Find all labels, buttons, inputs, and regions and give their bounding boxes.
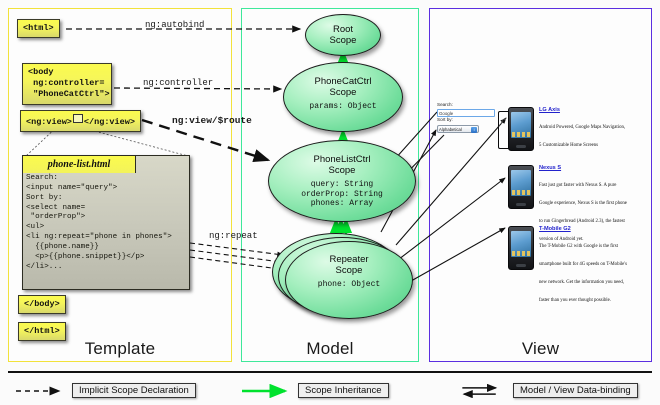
scope-phonecatctrl-name-line2: Scope [284,88,402,99]
legend-divider [8,371,652,373]
legend-item-scope-inheritance: Scope Inheritance [240,383,389,398]
tag-body-close: </body> [18,295,66,314]
phone-image-slider-icon [508,107,534,151]
diagram-canvas: Template Model View [0,0,660,405]
column-label-template: Template [9,339,231,359]
column-label-view: View [430,339,651,359]
scope-phonecatctrl: PhoneCatCtrl Scope params: Object [283,62,403,132]
label-ng-repeat: ng:repeat [209,231,258,241]
legend-label-scope-inheritance: Scope Inheritance [298,383,389,398]
phone-list-item[interactable]: T-Mobile G2 The T-Mobile G2 with Google … [508,226,627,306]
legend-label-data-binding: Model / View Data-binding [513,383,638,398]
tag-html-open: <html> [17,19,60,38]
scope-repeater: Repeater Scope phone: Object [285,241,413,319]
phone-snippet: Android Powered, Google Maps Navigation,… [539,125,625,148]
ng-view-close-text: </ng:view> [84,117,135,127]
scope-repeater-props: phone: Object [286,280,412,290]
label-ng-view-route: ng:view/$route [172,115,252,126]
template-note-phone-list: phone-list.html Search: <input name="que… [22,155,190,290]
phone-snippet: The T-Mobile G2 with Google is the first… [539,244,627,303]
phone-image-bar-icon [508,226,534,270]
tag-html-close: </html> [18,322,66,341]
tag-body-open: <body ng:controller= "PhoneCatCtrl"> [22,63,112,105]
scope-root: Root Scope [305,14,381,56]
phone-image-bar-icon [508,165,534,209]
search-input[interactable]: Google [437,109,495,117]
phone-name-link[interactable]: T-Mobile G2 [539,226,627,232]
legend-item-implicit-scope: Implicit Scope Declaration [14,383,196,398]
search-form: Search: Google Sort by: Alphabetical↕ [437,102,499,133]
legend-label-implicit-scope: Implicit Scope Declaration [72,383,196,398]
label-ng-autobind: ng:autobind [145,20,204,30]
label-ng-controller: ng:controller [143,78,213,88]
scope-repeater-name-line2: Scope [286,266,412,277]
phone-list-item[interactable]: LG Axis Android Powered, Google Maps Nav… [508,107,627,151]
ng-view-open-text: <ng:view> [26,117,72,127]
phone-text-block: LG Axis Android Powered, Google Maps Nav… [539,107,627,151]
scope-phonelistctrl-props: query: String orderProp: String phones: … [269,180,415,209]
column-label-model: Model [242,339,418,359]
double-arrow-icon [455,384,507,398]
scope-phonelistctrl-name-line2: Scope [269,166,415,177]
ng-view-placeholder-icon [73,114,83,123]
sort-select-value: Alphabetical [439,127,462,132]
note-code: Search: <input name="query"> Sort by: <s… [26,174,186,273]
note-title: phone-list.html [22,155,136,173]
sort-select[interactable]: Alphabetical↕ [437,125,479,133]
tag-ng-view: <ng:view></ng:view> [20,110,141,132]
phone-name-link[interactable]: Nexus S [539,165,627,171]
scope-phonelistctrl: PhoneListCtrl Scope query: String orderP… [268,140,416,222]
sort-label: Sort by: [437,117,499,124]
green-arrow-icon [240,384,292,398]
chevron-updown-icon: ↕ [471,127,477,133]
search-label: Search: [437,102,499,109]
scope-root-name-line2: Scope [306,36,380,47]
legend-item-data-binding: Model / View Data-binding [455,383,638,398]
phone-name-link[interactable]: LG Axis [539,107,627,113]
phone-text-block: T-Mobile G2 The T-Mobile G2 with Google … [539,226,627,306]
dashed-arrow-icon [14,384,66,398]
scope-phonecatctrl-props: params: Object [284,102,402,112]
